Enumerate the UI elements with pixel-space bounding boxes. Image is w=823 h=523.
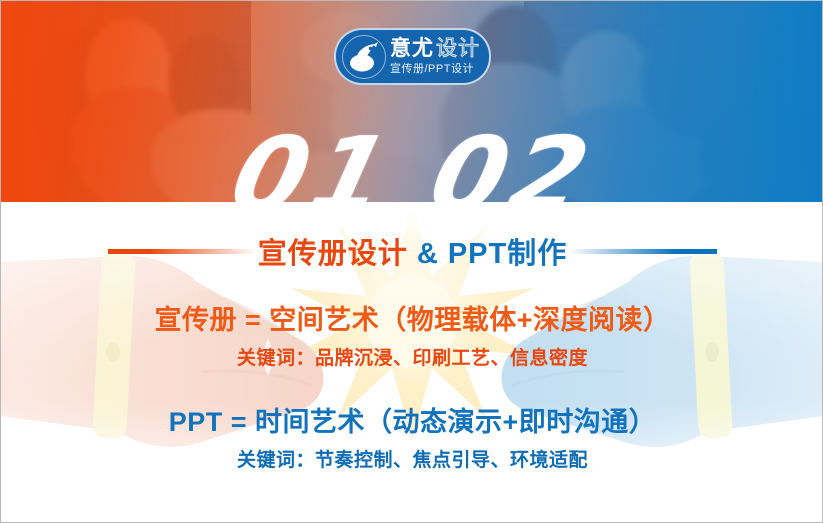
logo-bird-pen-icon (342, 35, 386, 79)
heading-text: 宣传册设计 & PPT制作 (256, 230, 569, 272)
banner-big-numbers: 01 02 (1, 127, 823, 202)
slide-root: 01 02 意尤 设计 宣传册/PPT设计 (0, 0, 823, 523)
heading-rule-left (108, 249, 256, 254)
hero-banner: 01 02 意尤 设计 宣传册/PPT设计 (1, 1, 823, 202)
block-2-title: PPT = 时间艺术（动态演示+即时沟通） (1, 400, 823, 439)
block-1-keywords: 关键词：品牌沉浸、印刷工艺、信息密度 (1, 343, 823, 370)
heading-blue-part: & PPT制作 (417, 238, 567, 270)
logo-subtitle: 宣传册/PPT设计 (390, 64, 480, 75)
heading-orange-part: 宣传册设计 (258, 238, 408, 270)
logo-name: 意尤 设计 (390, 38, 480, 59)
section-heading: 宣传册设计 & PPT制作 (1, 229, 823, 273)
block-2-keywords: 关键词：节奏控制、焦点引导、环境适配 (1, 445, 823, 472)
heading-rule-right (569, 249, 717, 254)
block-1-title: 宣传册 = 空间艺术（物理载体+深度阅读） (1, 298, 823, 337)
banner-number-text: 01 02 (223, 127, 603, 202)
logo-name-hollow: 设计 (436, 38, 480, 59)
content-area: 宣传册设计 & PPT制作 宣传册 = 空间艺术（物理载体+深度阅读） 关键词：… (1, 202, 823, 523)
logo-text-group: 意尤 设计 宣传册/PPT设计 (390, 38, 480, 75)
brand-logo[interactable]: 意尤 设计 宣传册/PPT设计 (334, 28, 491, 85)
logo-name-solid: 意尤 (390, 38, 434, 59)
